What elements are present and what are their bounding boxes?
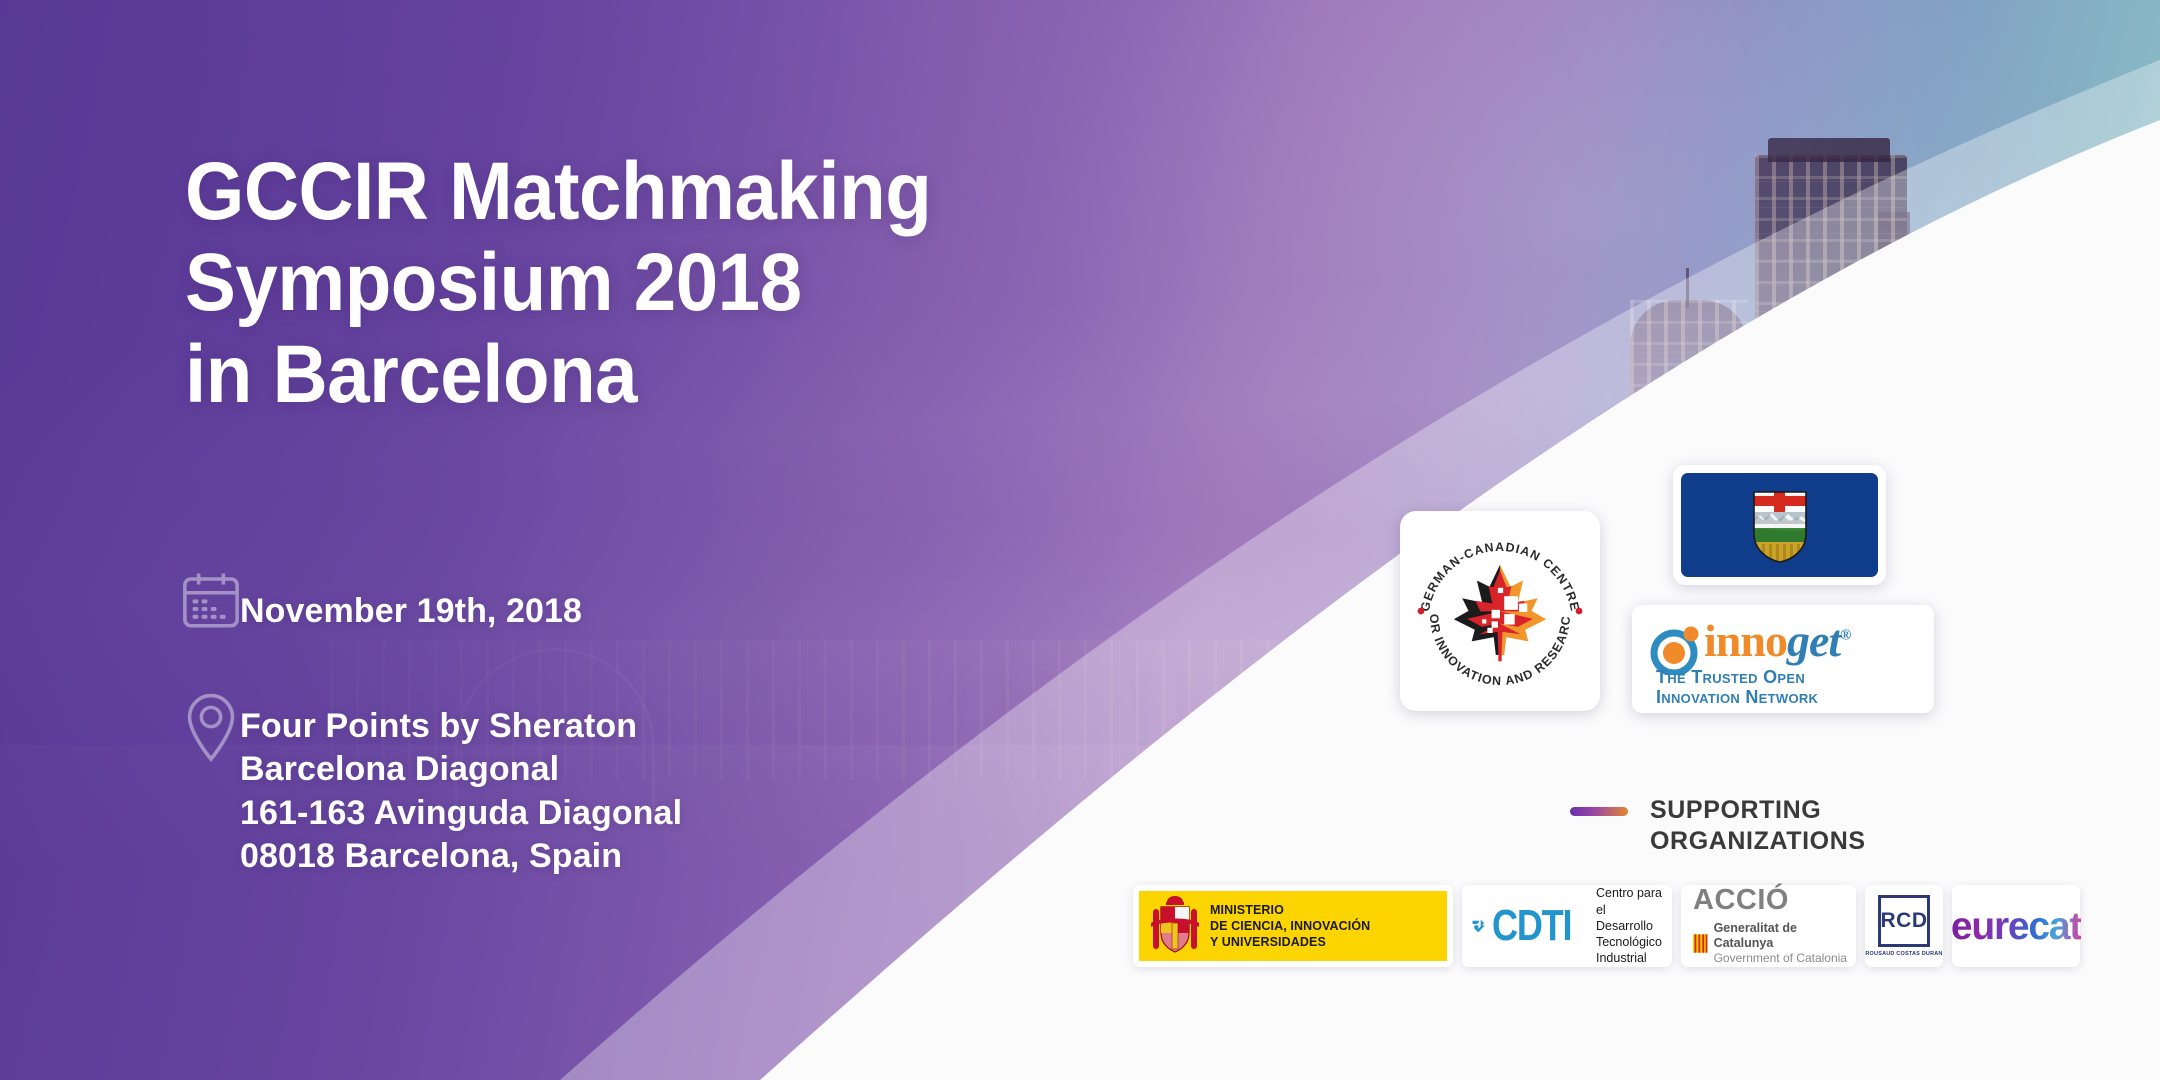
venue-line-4: 08018 Barcelona, Spain: [240, 835, 682, 878]
title-line-2: Symposium 2018: [185, 237, 931, 328]
title-line-1: GCCIR Matchmaking: [185, 146, 931, 237]
eurecat-wordmark: eurecat: [1951, 907, 2081, 946]
event-venue-row: Four Points by Sheraton Barcelona Diagon…: [178, 705, 682, 878]
innoget-wordmark: innoget®: [1704, 618, 1850, 664]
calendar-icon: [178, 568, 244, 639]
innoget-tagline-line-1: The Trusted Open: [1656, 667, 1818, 687]
supporting-organizations-header: SUPPORTING ORGANIZATIONS: [1570, 795, 1866, 856]
rcd-subtitle: ROUSAUD COSTAS DURAN: [1865, 951, 1942, 957]
event-venue: Four Points by Sheraton Barcelona Diagon…: [240, 705, 682, 878]
sponsor-logo-strip: MINISTERIO DE CIENCIA, INNOVACIÓN Y UNIV…: [1133, 885, 2080, 967]
supporting-label-line-1: SUPPORTING: [1650, 795, 1866, 826]
venue-line-2: Barcelona Diagonal: [240, 748, 682, 791]
accio-subtitle: Generalitat de Catalunya Government of C…: [1693, 921, 1856, 965]
cdti-line-3: Tecnológico: [1596, 934, 1662, 950]
map-pin-icon: [178, 689, 244, 772]
innoget-logo-card: innoget® The Trusted Open Innovation Net…: [1632, 605, 1934, 713]
accio-logo-card: ACCIÓ Generalitat de Catalunya Governmen…: [1681, 885, 1856, 967]
eurecat-logo-card: eurecat: [1952, 885, 2080, 967]
event-date-row: November 19th, 2018: [178, 590, 682, 633]
rcd-wordmark: RCD: [1878, 895, 1930, 947]
event-date: November 19th, 2018: [240, 590, 582, 633]
innoget-tagline: The Trusted Open Innovation Network: [1656, 667, 1818, 707]
supporting-label-line-2: ORGANIZATIONS: [1650, 826, 1866, 857]
innoget-word-secondary: get: [1787, 615, 1840, 666]
ministerio-line-1: MINISTERIO: [1210, 902, 1370, 918]
accio-line-1: Generalitat de Catalunya: [1714, 921, 1856, 951]
catalonia-flag-icon: [1693, 934, 1708, 953]
ministerio-line-2: DE CIENCIA, INNOVACIÓN: [1210, 918, 1370, 934]
alberta-flag: [1681, 473, 1878, 577]
spain-coat-of-arms-icon: [1149, 893, 1201, 959]
gccir-logo-card: GERMAN-CANADIAN CENTRE FOR INNOVATION AN…: [1400, 511, 1600, 711]
accio-wordmark: ACCIÓ: [1693, 886, 1789, 915]
cdti-line-2: Desarrollo: [1596, 918, 1662, 934]
cdti-subtitle: Centro para el Desarrollo Tecnológico In…: [1596, 885, 1662, 966]
gradient-accent-bar: [1570, 807, 1628, 816]
cdti-arrow-icon: [1472, 900, 1485, 952]
cdti-wordmark: CDTI: [1492, 904, 1571, 948]
ministerio-text: MINISTERIO DE CIENCIA, INNOVACIÓN Y UNIV…: [1210, 902, 1370, 950]
ministerio-line-3: Y UNIVERSIDADES: [1210, 934, 1370, 950]
registered-mark: ®: [1840, 628, 1850, 644]
supporting-organizations-label: SUPPORTING ORGANIZATIONS: [1650, 795, 1866, 856]
gccir-logo: GERMAN-CANADIAN CENTRE FOR INNOVATION AN…: [1400, 511, 1600, 711]
cdti-logo-card: CDTI Centro para el Desarrollo Tecnológi…: [1462, 885, 1672, 967]
innoget-word-primary: inno: [1704, 615, 1787, 666]
page-title: GCCIR Matchmaking Symposium 2018 in Barc…: [185, 146, 931, 420]
event-details: November 19th, 2018 Four Points by Shera…: [178, 590, 682, 878]
venue-line-1: Four Points by Sheraton: [240, 705, 682, 748]
accio-line-2: Government of Catalonia: [1714, 951, 1856, 965]
cdti-line-1: Centro para el: [1596, 885, 1662, 918]
innoget-tagline-line-2: Innovation Network: [1656, 687, 1818, 707]
cdti-line-4: Industrial: [1596, 950, 1662, 966]
alberta-flag-card: [1673, 465, 1886, 585]
ministerio-logo: MINISTERIO DE CIENCIA, INNOVACIÓN Y UNIV…: [1139, 891, 1447, 961]
ministerio-logo-card: MINISTERIO DE CIENCIA, INNOVACIÓN Y UNIV…: [1133, 885, 1453, 967]
title-line-3: in Barcelona: [185, 329, 931, 420]
venue-line-3: 161-163 Avinguda Diagonal: [240, 792, 682, 835]
alberta-shield-icon: [1752, 490, 1808, 564]
event-banner: GCCIR Matchmaking Symposium 2018 in Barc…: [0, 0, 2160, 1080]
rcd-logo-card: RCD ROUSAUD COSTAS DURAN: [1865, 885, 1943, 967]
